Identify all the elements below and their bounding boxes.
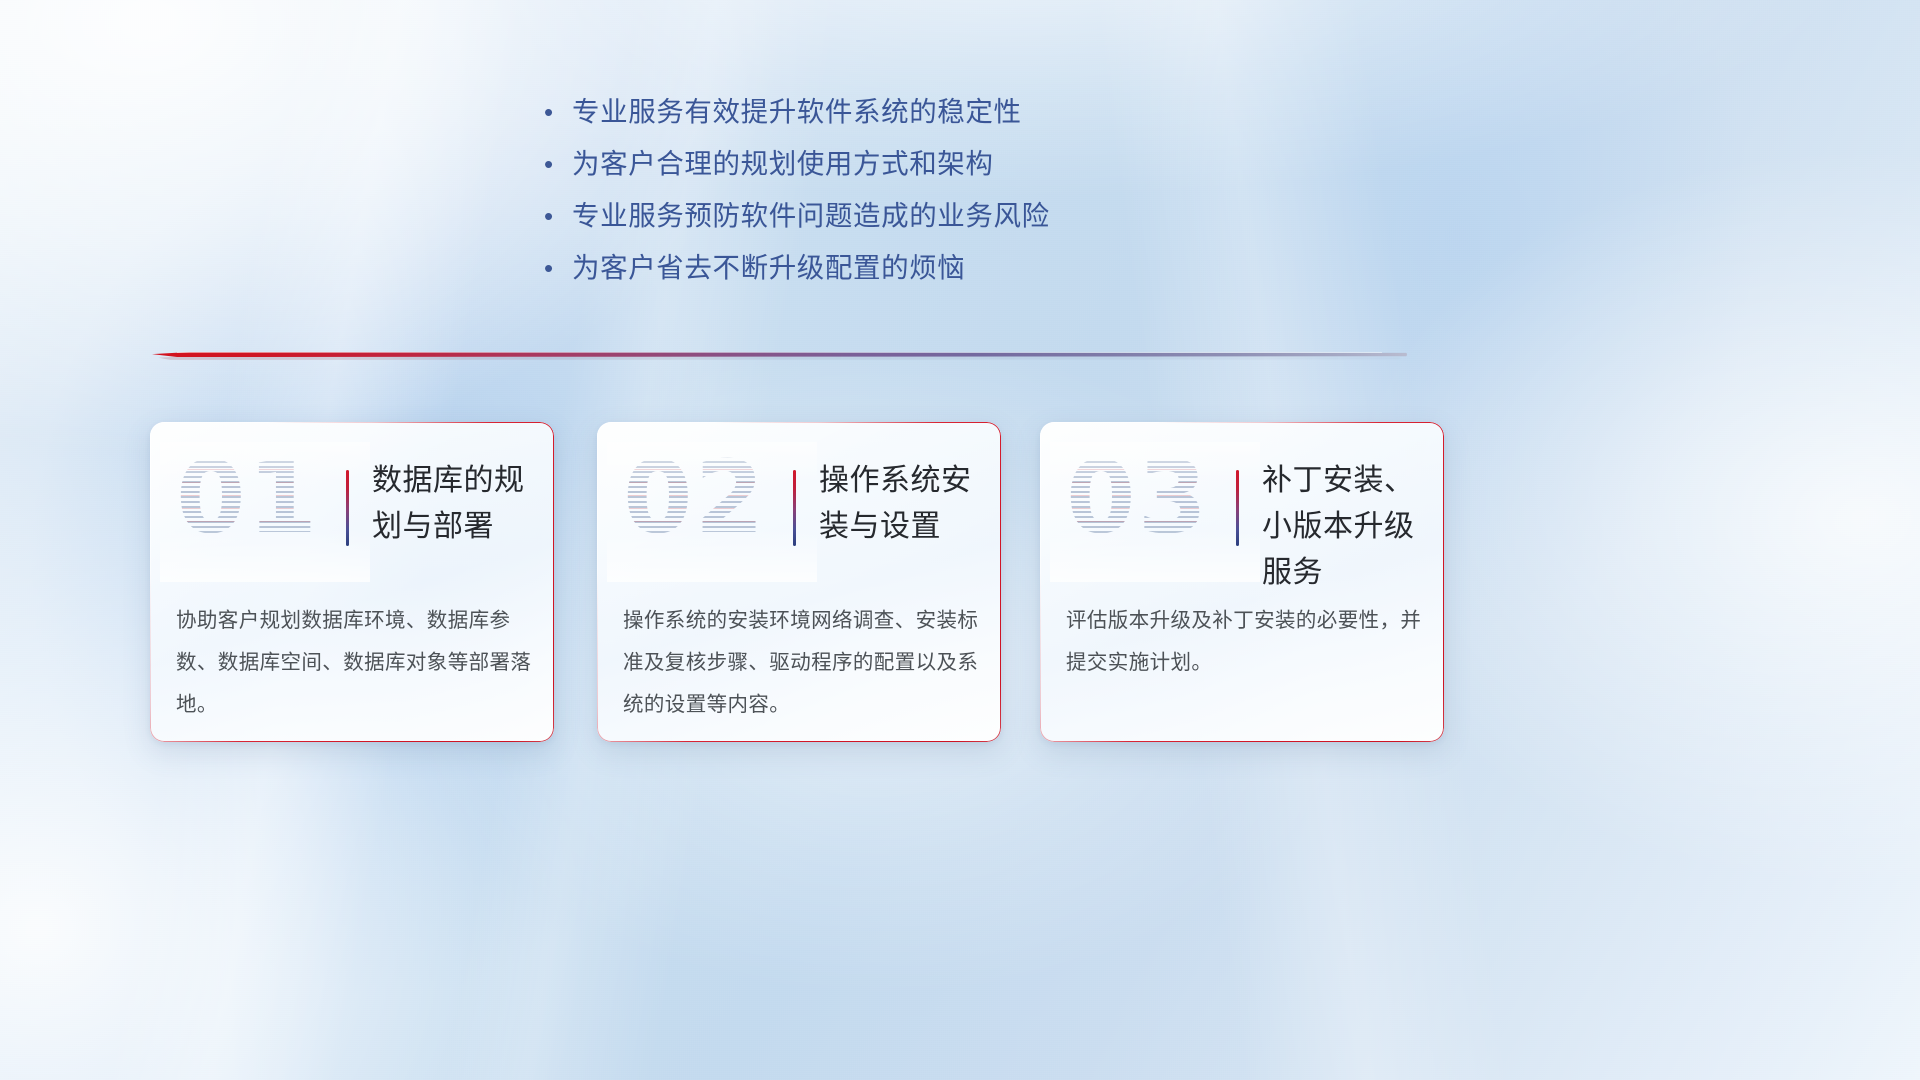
list-item: • 为客户合理的规划使用方式和架构	[538, 144, 1178, 196]
card-title: 操作系统安装与设置	[819, 458, 995, 550]
card-title: 数据库的规划与部署	[372, 458, 548, 550]
list-item: • 专业服务有效提升软件系统的稳定性	[538, 92, 1178, 144]
bullet-dot-icon: •	[538, 144, 572, 184]
service-card-02[interactable]: 02 02 操作系统安装与设置 操作系统的安装环境网络调查、安装标准及复核步骤、…	[597, 422, 1001, 742]
card-number-watermark-tint: 03	[1066, 448, 1209, 548]
benefit-bullet-list: • 专业服务有效提升软件系统的稳定性 • 为客户合理的规划使用方式和架构 • 专…	[538, 92, 1178, 300]
service-card-01[interactable]: 01 01 数据库的规划与部署 协助客户规划数据库环境、数据库参数、数据库空间、…	[150, 422, 554, 742]
card-header: 01 01 数据库的规划与部署	[150, 422, 554, 597]
bullet-dot-icon: •	[538, 92, 572, 132]
card-number-watermark-tint: 02	[623, 448, 766, 548]
bullet-text: 为客户合理的规划使用方式和架构	[572, 144, 994, 184]
service-card-03[interactable]: 03 03 补丁安装、小版本升级服务 评估版本升级及补丁安装的必要性，并提交实施…	[1040, 422, 1444, 742]
card-body-text: 操作系统的安装环境网络调查、安装标准及复核步骤、驱动程序的配置以及系统的设置等内…	[623, 600, 981, 726]
card-header: 03 03 补丁安装、小版本升级服务	[1040, 422, 1444, 597]
bullet-dot-icon: •	[538, 248, 572, 288]
bullet-text: 专业服务预防软件问题造成的业务风险	[572, 196, 1050, 236]
card-title-rule	[793, 470, 796, 546]
card-title-rule	[1236, 470, 1239, 546]
divider-highlight	[177, 352, 1382, 353]
card-body-text: 评估版本升级及补丁安装的必要性，并提交实施计划。	[1066, 600, 1424, 684]
list-item: • 专业服务预防软件问题造成的业务风险	[538, 196, 1178, 248]
bullet-text: 为客户省去不断升级配置的烦恼	[572, 248, 965, 288]
section-divider	[152, 348, 1407, 362]
bullet-text: 专业服务有效提升软件系统的稳定性	[572, 92, 1022, 132]
card-title: 补丁安装、小版本升级服务	[1262, 458, 1438, 596]
card-header: 02 02 操作系统安装与设置	[597, 422, 1001, 597]
card-title-rule	[346, 470, 349, 546]
bullet-dot-icon: •	[538, 196, 572, 236]
card-number-watermark-tint: 01	[176, 448, 319, 548]
list-item: • 为客户省去不断升级配置的烦恼	[538, 248, 1178, 300]
card-body-text: 协助客户规划数据库环境、数据库参数、数据库空间、数据库对象等部署落地。	[176, 600, 534, 726]
